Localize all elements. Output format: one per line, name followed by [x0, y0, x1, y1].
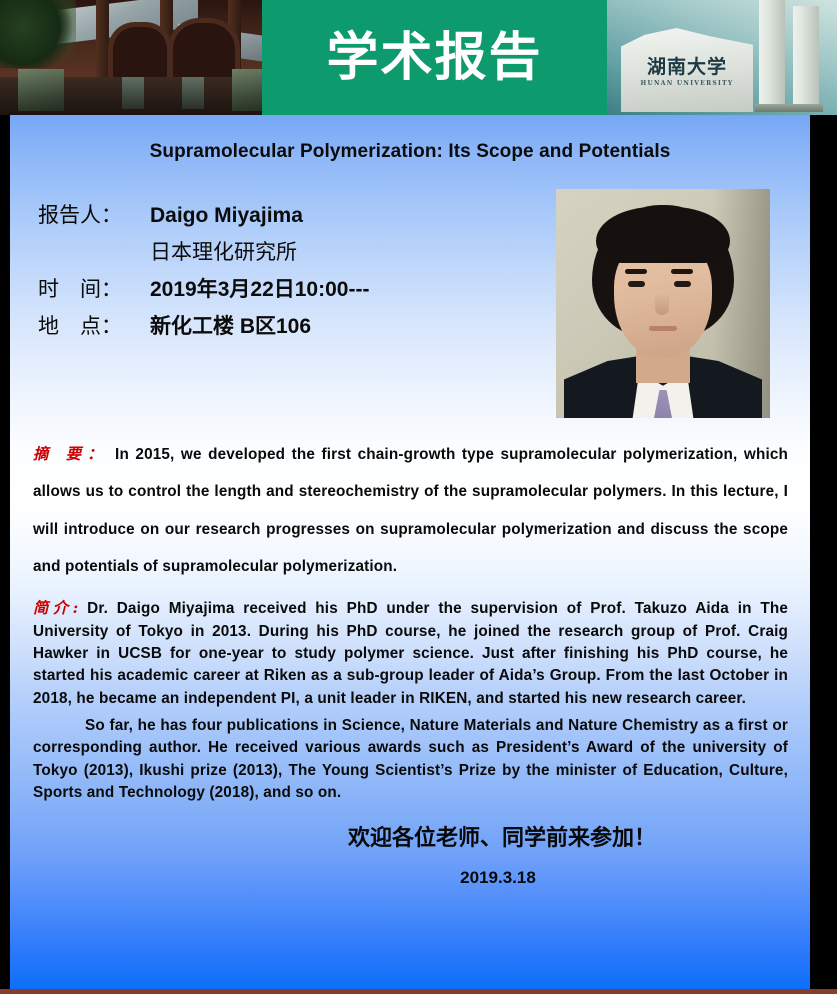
welcome-message: 欢迎各位老师、同学前来参加！ — [10, 820, 810, 852]
building-door — [122, 77, 144, 109]
bio-label: 简介: — [33, 599, 78, 617]
portrait-eyebrow — [625, 269, 647, 274]
poster-body: Supramolecular Polymerization: Its Scope… — [10, 115, 810, 989]
header-banner: 学术报告 湖南大学 HUNAN UNIVERSITY — [0, 0, 837, 115]
monument-en-label: HUNAN UNIVERSITY — [629, 80, 745, 87]
time-value: 2019年3月22日10:00--- — [150, 273, 369, 303]
seminar-details: 报告人： Daigo Miyajima 日本理化研究所 时 间： 2019年3月… — [38, 189, 556, 347]
monument-column-base — [755, 104, 789, 112]
portrait-eye — [628, 281, 645, 287]
abstract-label: 摘 要： — [33, 445, 109, 463]
portrait-mouth — [649, 326, 677, 331]
portrait-fringe — [596, 207, 730, 263]
building-window — [18, 69, 64, 111]
abstract-section: 摘 要： In 2015, we developed the first cha… — [33, 436, 788, 585]
affiliation-row: 日本理化研究所 — [38, 236, 556, 266]
foliage — [0, 0, 76, 68]
building-window — [232, 69, 262, 111]
portrait-nose — [655, 293, 669, 315]
portrait-eyebrow — [671, 269, 693, 274]
speaker-row: 报告人： Daigo Miyajima — [38, 199, 556, 229]
speaker-label: 报告人： — [38, 199, 150, 229]
monument-column — [759, 0, 785, 108]
poster-date: 2019.3.18 — [10, 868, 810, 888]
bio-paragraph-2: So far, he has four publications in Scie… — [33, 715, 788, 804]
seminar-poster: 学术报告 湖南大学 HUNAN UNIVERSITY Supramolecula… — [0, 0, 837, 994]
speaker-portrait — [556, 189, 770, 418]
monument-cn-label: 湖南大学 — [629, 52, 745, 79]
banner-title-block: 学术报告 — [262, 0, 607, 115]
monument-column-base — [789, 104, 823, 112]
bio-section: 简介: Dr. Daigo Miyajima received his PhD … — [33, 597, 788, 710]
speaker-name: Daigo Miyajima — [150, 204, 303, 228]
place-label: 地 点： — [38, 310, 150, 340]
banner-title: 学术报告 — [326, 32, 542, 84]
seminar-details-row: 报告人： Daigo Miyajima 日本理化研究所 时 间： 2019年3月… — [10, 189, 810, 418]
campus-building-photo — [0, 0, 262, 115]
building-door — [182, 77, 204, 109]
monument-column — [793, 6, 819, 108]
bottom-rule — [0, 989, 837, 994]
time-row: 时 间： 2019年3月22日10:00--- — [38, 273, 556, 303]
time-label: 时 间： — [38, 273, 150, 303]
hunan-university-monument-photo: 湖南大学 HUNAN UNIVERSITY — [607, 0, 837, 115]
place-value: 新化工楼 B区106 — [150, 310, 311, 340]
bio-paragraph-1: Dr. Daigo Miyajima received his PhD unde… — [33, 600, 788, 706]
affiliation: 日本理化研究所 — [150, 236, 297, 266]
abstract-text: In 2015, we developed the first chain-gr… — [33, 446, 788, 575]
seminar-title: Supramolecular Polymerization: Its Scope… — [46, 141, 774, 163]
portrait-eye — [674, 281, 691, 287]
place-row: 地 点： 新化工楼 B区106 — [38, 310, 556, 340]
